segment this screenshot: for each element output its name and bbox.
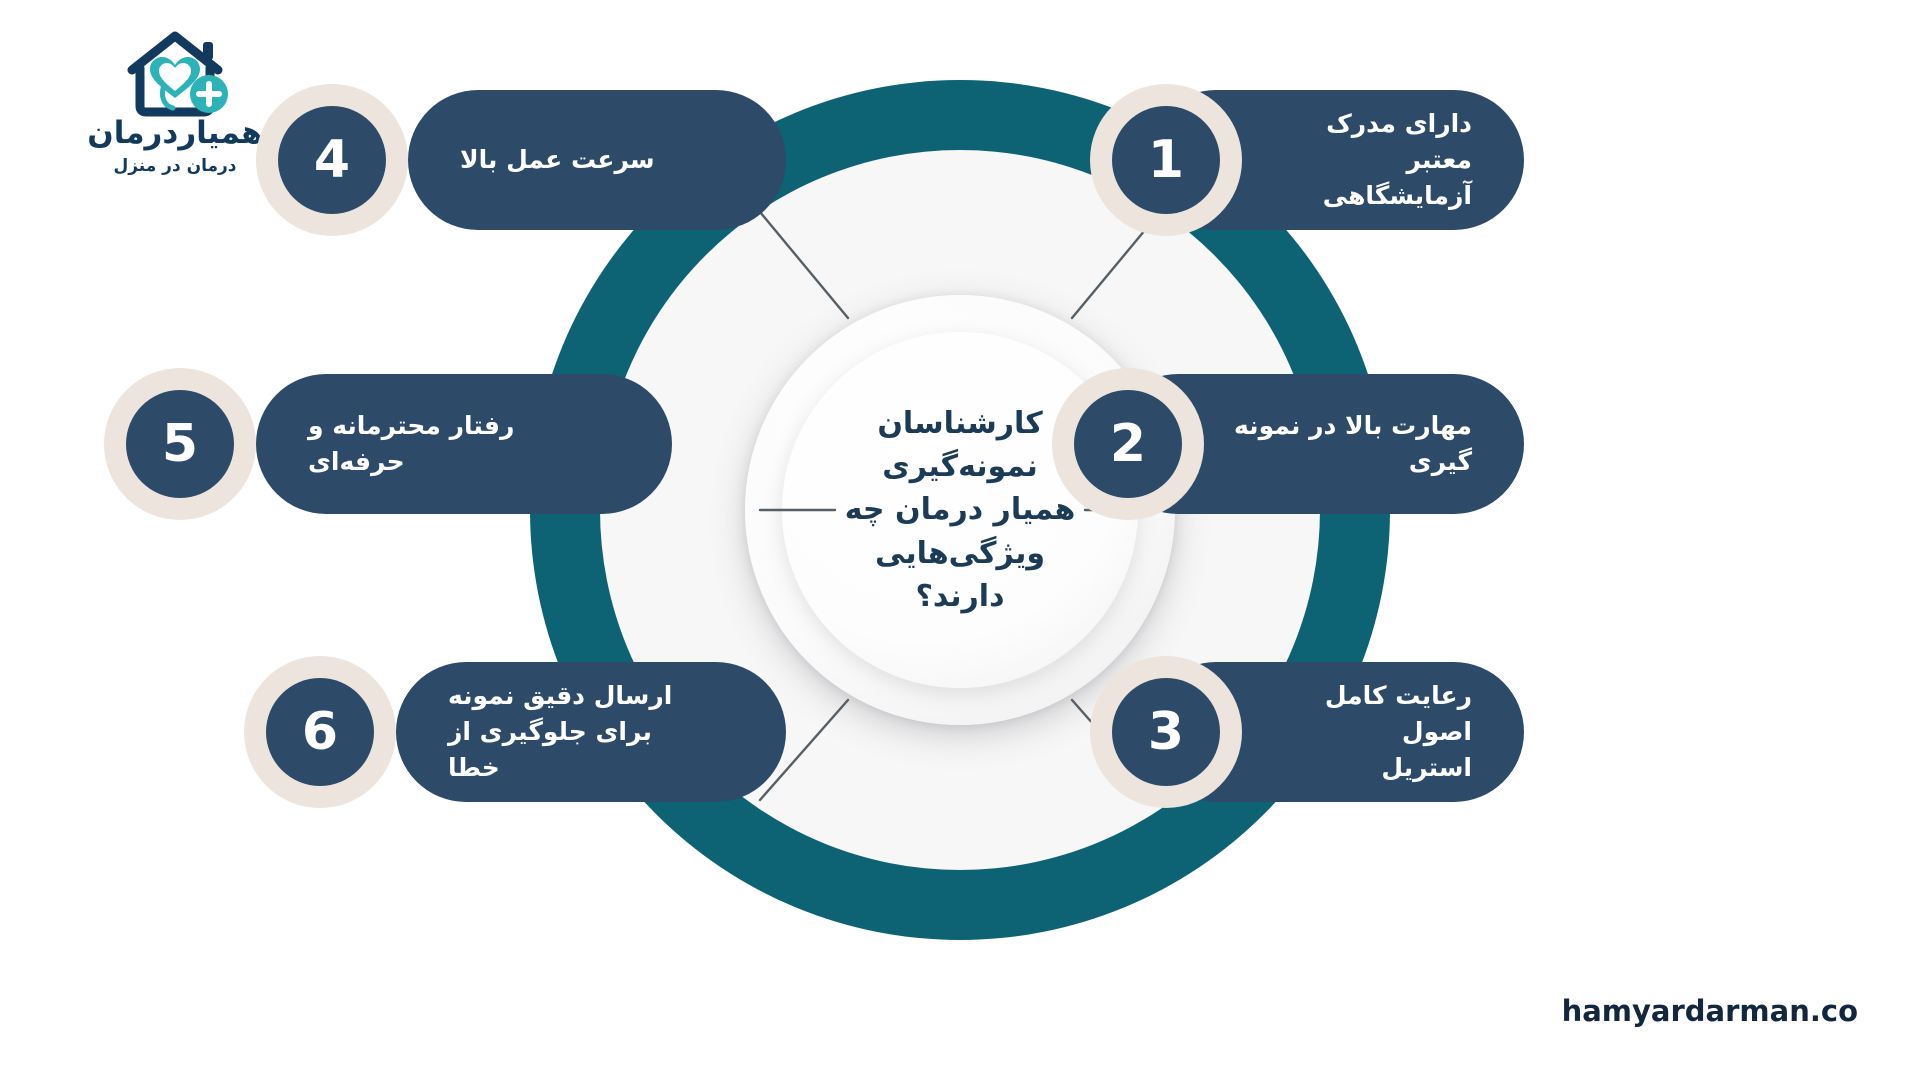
feature-item-1[interactable]: دارای مدرک معتبر آزمایشگاهی 1: [1090, 84, 1524, 236]
feature-badge-2[interactable]: 2: [1052, 368, 1204, 520]
feature-number-6: 6: [266, 678, 374, 786]
feature-pill-6[interactable]: ارسال دقیق نمونه برای جلوگیری از خطا: [396, 662, 786, 802]
feature-label-5-line-1: رفتار محترمانه و: [308, 408, 514, 444]
feature-item-2[interactable]: مهارت بالا در نمونه گیری 2: [1052, 368, 1524, 520]
infographic-canvas: همیاردرمان درمان در منزل کارشناسان نمونه: [0, 0, 1920, 1080]
feature-number-1: 1: [1112, 106, 1220, 214]
feature-pill-4[interactable]: سرعت عمل بالا: [408, 90, 786, 230]
feature-number-5: 5: [126, 390, 234, 498]
feature-label-2-line-1: مهارت بالا در نمونه: [1234, 408, 1472, 444]
feature-item-6[interactable]: ارسال دقیق نمونه برای جلوگیری از خطا 6: [340, 656, 786, 808]
feature-pill-5[interactable]: رفتار محترمانه و حرفه‌ای: [256, 374, 672, 514]
feature-label-5-line-2: حرفه‌ای: [308, 444, 514, 480]
feature-number-2: 2: [1074, 390, 1182, 498]
feature-item-5[interactable]: رفتار محترمانه و حرفه‌ای 5: [200, 368, 672, 520]
feature-label-3-line-1: رعایت کامل اصول: [1256, 678, 1472, 751]
feature-label-6-line-2: برای جلوگیری از خطا: [448, 714, 676, 787]
feature-label-3-line-2: استریل: [1256, 750, 1472, 786]
feature-label-2: مهارت بالا در نمونه گیری: [1234, 408, 1472, 481]
feature-label-5: رفتار محترمانه و حرفه‌ای: [308, 408, 514, 481]
feature-number-4: 4: [278, 106, 386, 214]
website-url[interactable]: hamyardarman.co: [1562, 994, 1858, 1028]
feature-number-3: 3: [1112, 678, 1220, 786]
feature-badge-3[interactable]: 3: [1090, 656, 1242, 808]
feature-label-1: دارای مدرک معتبر آزمایشگاهی: [1256, 106, 1472, 215]
feature-label-6-line-1: ارسال دقیق نمونه: [448, 678, 676, 714]
feature-item-4[interactable]: سرعت عمل بالا 4: [352, 84, 786, 236]
feature-label-1-line-1: دارای مدرک معتبر: [1256, 106, 1472, 179]
feature-label-6: ارسال دقیق نمونه برای جلوگیری از خطا: [448, 678, 676, 787]
feature-label-4-line-1: سرعت عمل بالا: [460, 142, 655, 178]
feature-label-2-line-2: گیری: [1234, 444, 1472, 480]
feature-label-4: سرعت عمل بالا: [460, 142, 655, 178]
feature-badge-4[interactable]: 4: [256, 84, 408, 236]
feature-item-3[interactable]: رعایت کامل اصول استریل 3: [1090, 656, 1524, 808]
feature-label-3: رعایت کامل اصول استریل: [1256, 678, 1472, 787]
feature-badge-1[interactable]: 1: [1090, 84, 1242, 236]
feature-label-1-line-2: آزمایشگاهی: [1256, 178, 1472, 214]
feature-badge-5[interactable]: 5: [104, 368, 256, 520]
feature-badge-6[interactable]: 6: [244, 656, 396, 808]
